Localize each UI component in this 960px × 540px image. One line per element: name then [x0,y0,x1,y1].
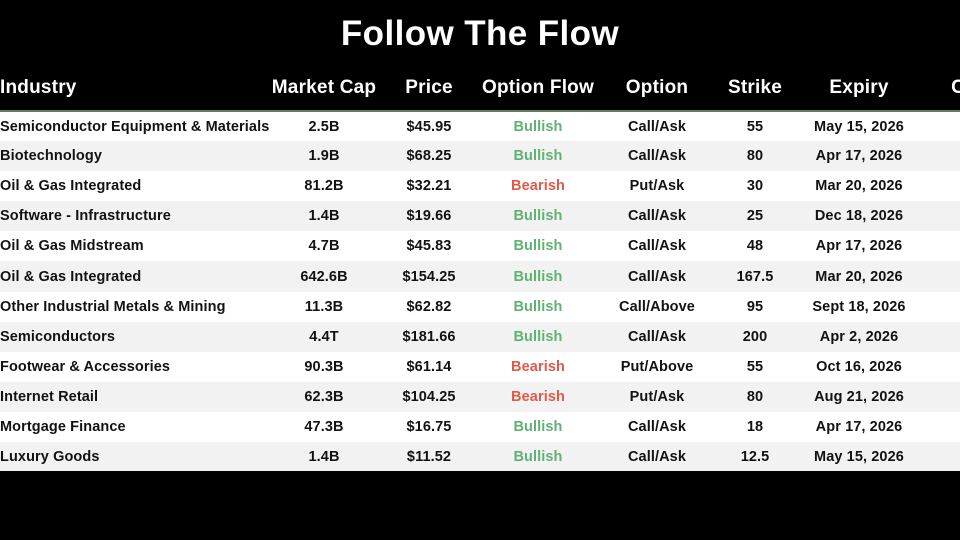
cell-price: $104.25 [384,382,474,412]
cell-option-flow: Bullish [474,442,602,471]
cell-industry: Biotechnology [0,141,264,171]
cell-strike: 55 [712,111,798,141]
table-row[interactable]: Luxury Goods1.4B$11.52BullishCall/Ask12.… [0,442,960,471]
cell-option-flow: Bearish [474,382,602,412]
cell-expiry: Mar 20, 2026 [798,171,920,201]
cell-option: Call/Ask [602,111,712,141]
flow-table-container: Industry Market Cap Price Option Flow Op… [0,66,960,471]
cell-option-flow: Bullish [474,261,602,291]
cell-option-flow: Bullish [474,292,602,322]
cell-contracts: 2,873 [920,442,960,471]
table-row[interactable]: Internet Retail62.3B$104.25BearishPut/As… [0,382,960,412]
cell-market-cap: 11.3B [264,292,384,322]
bottom-band [0,471,960,540]
screen-root: Follow The Flow Industry Market Cap Pric… [0,0,960,540]
cell-industry: Oil & Gas Integrated [0,261,264,291]
cell-option: Call/Above [602,292,712,322]
table-row[interactable]: Oil & Gas Integrated642.6B$154.25Bullish… [0,261,960,291]
cell-strike: 167.5 [712,261,798,291]
cell-price: $11.52 [384,442,474,471]
cell-expiry: Sept 18, 2026 [798,292,920,322]
cell-option: Call/Ask [602,322,712,352]
cell-option: Call/Ask [602,261,712,291]
page-title: Follow The Flow [341,16,619,51]
cell-option: Call/Ask [602,141,712,171]
cell-price: $19.66 [384,201,474,231]
cell-option: Put/Above [602,352,712,382]
cell-price: $154.25 [384,261,474,291]
cell-industry: Mortgage Finance [0,412,264,442]
cell-contracts: 450 [920,382,960,412]
cell-market-cap: 2.5B [264,111,384,141]
cell-option: Put/Ask [602,382,712,412]
cell-option-flow: Bullish [474,322,602,352]
cell-industry: Footwear & Accessories [0,352,264,382]
cell-market-cap: 4.7B [264,231,384,261]
column-header-industry[interactable]: Industry [0,66,264,111]
cell-option-flow: Bullish [474,231,602,261]
cell-price: $68.25 [384,141,474,171]
table-row[interactable]: Semiconductor Equipment & Materials2.5B$… [0,111,960,141]
cell-expiry: Apr 2, 2026 [798,322,920,352]
cell-expiry: May 15, 2026 [798,111,920,141]
cell-price: $62.82 [384,292,474,322]
column-header-strike[interactable]: Strike [712,66,798,111]
cell-expiry: Apr 17, 2026 [798,231,920,261]
cell-expiry: Oct 16, 2026 [798,352,920,382]
column-header-option-flow[interactable]: Option Flow [474,66,602,111]
column-header-option[interactable]: Option [602,66,712,111]
table-row[interactable]: Mortgage Finance47.3B$16.75BullishCall/A… [0,412,960,442]
cell-industry: Semiconductors [0,322,264,352]
cell-industry: Internet Retail [0,382,264,412]
cell-expiry: Aug 21, 2026 [798,382,920,412]
cell-market-cap: 90.3B [264,352,384,382]
cell-option: Put/Ask [602,171,712,201]
cell-market-cap: 1.4B [264,442,384,471]
cell-expiry: Mar 20, 2026 [798,261,920,291]
cell-expiry: Dec 18, 2026 [798,201,920,231]
cell-market-cap: 1.4B [264,201,384,231]
cell-option: Call/Ask [602,231,712,261]
cell-strike: 12.5 [712,442,798,471]
cell-market-cap: 4.4T [264,322,384,352]
cell-market-cap: 62.3B [264,382,384,412]
cell-industry: Oil & Gas Integrated [0,171,264,201]
table-row[interactable]: Oil & Gas Midstream4.7B$45.83BullishCall… [0,231,960,261]
cell-industry: Other Industrial Metals & Mining [0,292,264,322]
table-head: Industry Market Cap Price Option Flow Op… [0,66,960,111]
table-row[interactable]: Other Industrial Metals & Mining11.3B$62… [0,292,960,322]
cell-expiry: May 15, 2026 [798,442,920,471]
cell-market-cap: 1.9B [264,141,384,171]
cell-industry: Oil & Gas Midstream [0,231,264,261]
table-row[interactable]: Footwear & Accessories90.3B$61.14Bearish… [0,352,960,382]
table-row[interactable]: Oil & Gas Integrated81.2B$32.21BearishPu… [0,171,960,201]
cell-strike: 95 [712,292,798,322]
cell-price: $181.66 [384,322,474,352]
cell-option: Call/Ask [602,442,712,471]
cell-strike: 18 [712,412,798,442]
cell-contracts: 1,756 [920,292,960,322]
column-header-price[interactable]: Price [384,66,474,111]
cell-strike: 25 [712,201,798,231]
cell-contracts: 357 [920,352,960,382]
cell-strike: 80 [712,141,798,171]
cell-contracts: 4,423 [920,171,960,201]
cell-contracts: 1,248 [920,412,960,442]
cell-market-cap: 47.3B [264,412,384,442]
cell-expiry: Apr 17, 2026 [798,141,920,171]
table-row[interactable]: Biotechnology1.9B$68.25BullishCall/Ask80… [0,141,960,171]
cell-strike: 80 [712,382,798,412]
cell-contracts: 644 [920,201,960,231]
cell-contracts: 1,643 [920,261,960,291]
column-header-market-cap[interactable]: Market Cap [264,66,384,111]
cell-option-flow: Bullish [474,201,602,231]
cell-price: $61.14 [384,352,474,382]
cell-contracts: 200 [920,111,960,141]
cell-strike: 30 [712,171,798,201]
cell-option-flow: Bullish [474,412,602,442]
cell-strike: 55 [712,352,798,382]
column-header-expiry[interactable]: Expiry [798,66,920,111]
cell-industry: Luxury Goods [0,442,264,471]
column-header-contracts[interactable]: Contract [920,66,960,111]
table-row[interactable]: Software - Infrastructure1.4B$19.66Bulli… [0,201,960,231]
cell-expiry: Apr 17, 2026 [798,412,920,442]
cell-industry: Semiconductor Equipment & Materials [0,111,264,141]
cell-option: Call/Ask [602,412,712,442]
table-row[interactable]: Semiconductors4.4T$181.66BullishCall/Ask… [0,322,960,352]
title-bar: Follow The Flow [0,0,960,66]
option-flow-table: Industry Market Cap Price Option Flow Op… [0,66,960,471]
table-body: Semiconductor Equipment & Materials2.5B$… [0,111,960,471]
table-header-row: Industry Market Cap Price Option Flow Op… [0,66,960,111]
cell-option-flow: Bullish [474,141,602,171]
cell-price: $45.83 [384,231,474,261]
cell-contracts: 279 [920,141,960,171]
cell-strike: 200 [712,322,798,352]
cell-price: $32.21 [384,171,474,201]
cell-contracts: 50,494 [920,322,960,352]
cell-industry: Software - Infrastructure [0,201,264,231]
cell-contracts: 1,036 [920,231,960,261]
cell-option-flow: Bearish [474,171,602,201]
cell-price: $45.95 [384,111,474,141]
cell-option-flow: Bearish [474,352,602,382]
cell-strike: 48 [712,231,798,261]
cell-option-flow: Bullish [474,111,602,141]
cell-market-cap: 81.2B [264,171,384,201]
cell-market-cap: 642.6B [264,261,384,291]
cell-option: Call/Ask [602,201,712,231]
cell-price: $16.75 [384,412,474,442]
